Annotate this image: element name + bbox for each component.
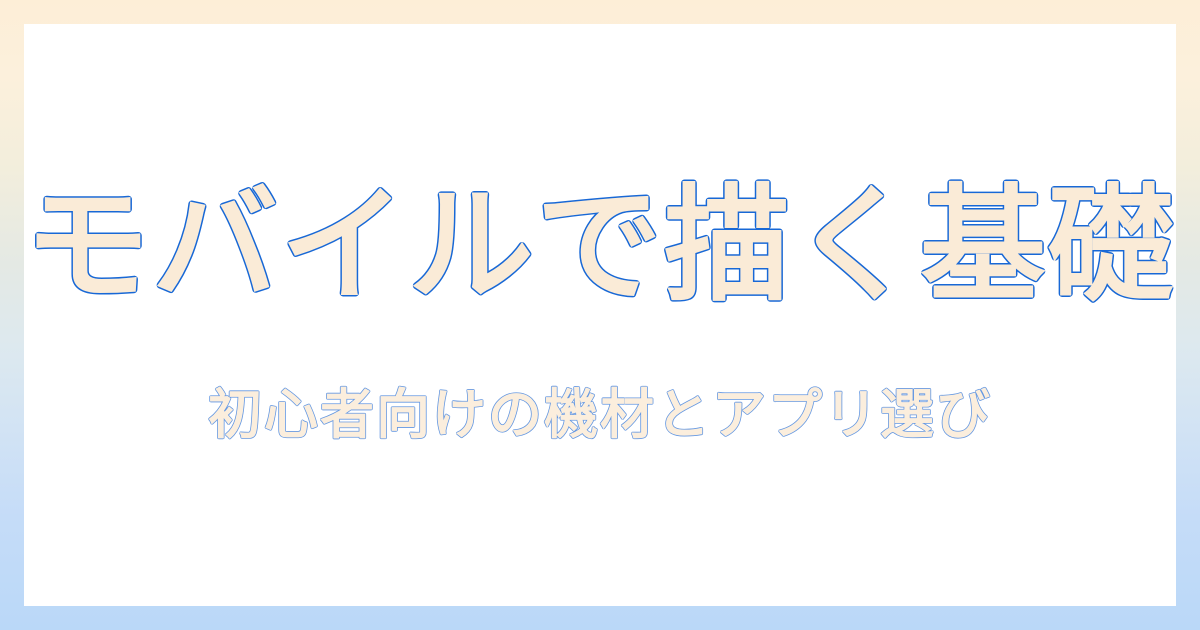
poster-canvas: モバイルで描く基礎 初心者向けの機材とアプリ選び bbox=[0, 0, 1200, 630]
poster-title: モバイルで描く基礎 bbox=[24, 161, 1176, 341]
poster-card: モバイルで描く基礎 初心者向けの機材とアプリ選び bbox=[24, 24, 1176, 606]
poster-subtitle: 初心者向けの機材とアプリ選び bbox=[24, 367, 1176, 463]
title-text: モバイルで描く基礎 bbox=[24, 172, 1176, 319]
title-svg: モバイルで描く基礎 bbox=[24, 161, 1176, 341]
subtitle-text: 初心者向けの機材とアプリ選び bbox=[208, 383, 992, 446]
subtitle-svg: 初心者向けの機材とアプリ選び bbox=[24, 367, 1176, 463]
poster-text-stack: モバイルで描く基礎 初心者向けの機材とアプリ選び bbox=[24, 161, 1176, 463]
